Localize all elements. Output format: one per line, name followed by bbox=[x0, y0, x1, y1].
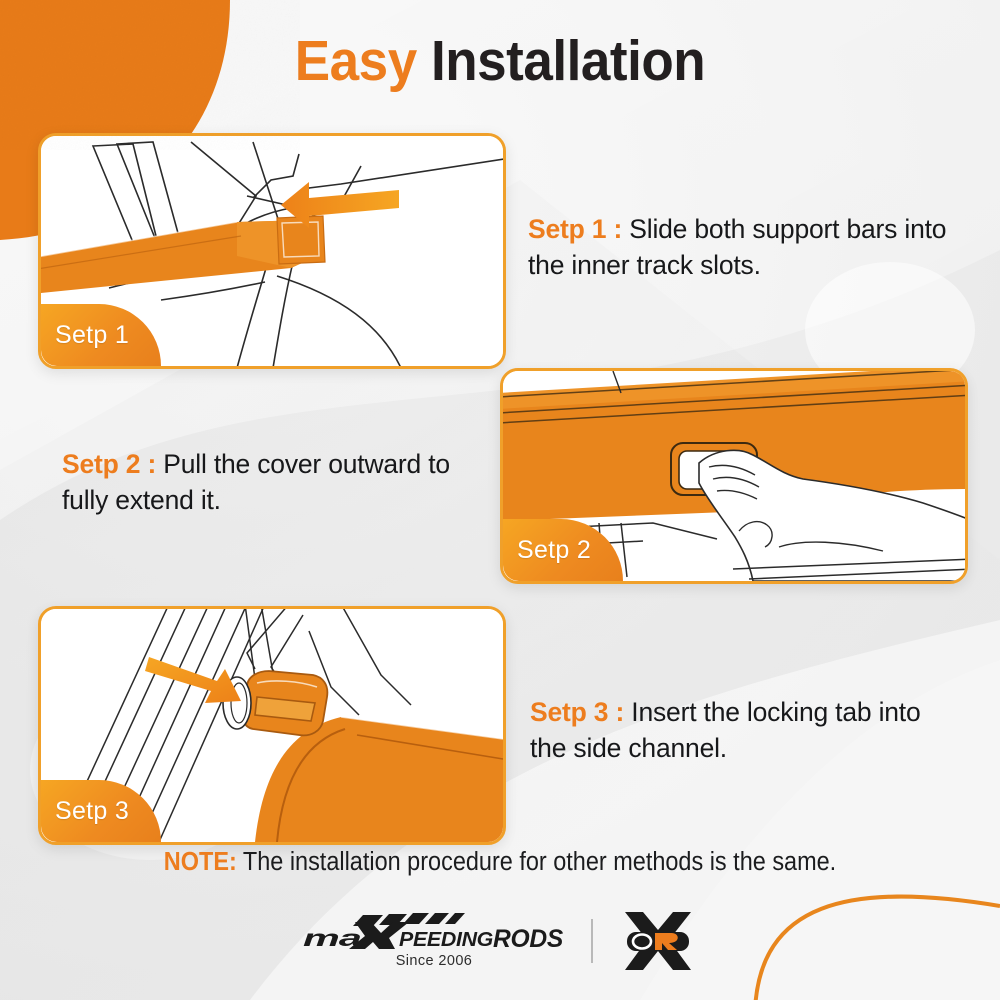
step-3-badge-label: Setp 3 bbox=[55, 797, 129, 826]
since-label: Since 2006 bbox=[396, 953, 473, 969]
step-3-label: Setp 3 : bbox=[530, 697, 624, 727]
step-2-badge-label: Setp 2 bbox=[517, 536, 591, 565]
step-1-badge-label: Setp 1 bbox=[55, 321, 129, 350]
infographic-page: Easy Installation bbox=[0, 0, 1000, 1000]
step-2-description: Setp 2 : Pull the cover outward to fully… bbox=[62, 447, 492, 518]
step-1-label: Setp 1 : bbox=[528, 214, 622, 244]
page-title: Easy Installation bbox=[35, 28, 965, 94]
note-text: The installation procedure for other met… bbox=[237, 848, 836, 876]
step-2-label: Setp 2 : bbox=[62, 449, 156, 479]
note-line: NOTE: The installation procedure for oth… bbox=[40, 848, 960, 877]
note-label: NOTE: bbox=[164, 848, 237, 876]
svg-text:RODS: RODS bbox=[493, 925, 564, 951]
step-1-image-panel[interactable]: Setp 1 bbox=[38, 133, 506, 369]
footer-logos: ma PEEDING RODS Since 2006 bbox=[0, 905, 1000, 977]
step-3-description: Setp 3 : Insert the locking tab into the… bbox=[530, 695, 950, 766]
title-highlight: Easy bbox=[295, 29, 417, 93]
step-3-image-panel[interactable]: Setp 3 bbox=[38, 606, 506, 845]
title-rest: Installation bbox=[431, 29, 705, 93]
svg-text:PEEDING: PEEDING bbox=[399, 929, 493, 951]
maxpeedingrods-logo: ma PEEDING RODS bbox=[303, 913, 565, 951]
maxpeedingrods-brand: ma PEEDING RODS Since 2006 bbox=[303, 913, 565, 969]
footer-divider bbox=[591, 919, 593, 963]
step-1-description: Setp 1 : Slide both support bars into th… bbox=[528, 212, 958, 283]
step-2-image-panel[interactable]: Setp 2 bbox=[500, 368, 968, 584]
oxr-logo bbox=[619, 910, 697, 972]
